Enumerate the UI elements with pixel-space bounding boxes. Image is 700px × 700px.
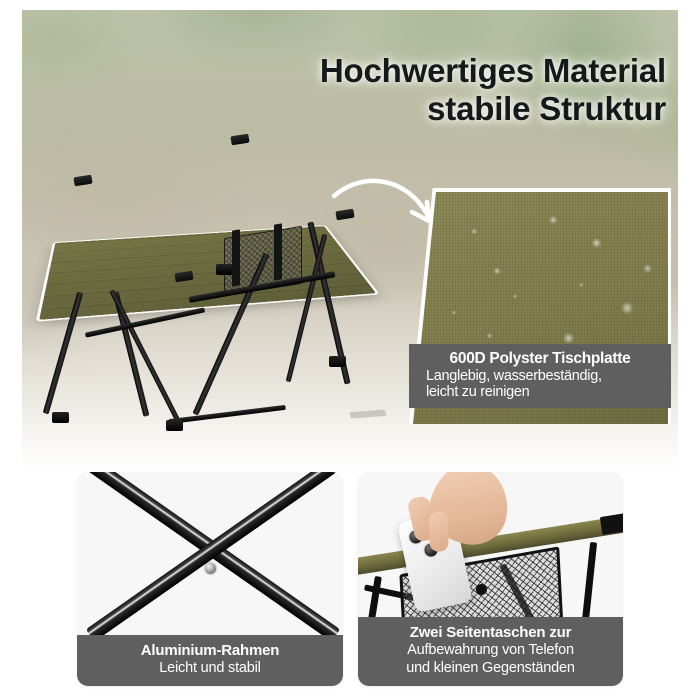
aluminium-caption-line-1: Leicht und stabil	[85, 660, 335, 677]
mesh-pocket-snap-button	[476, 584, 487, 595]
pockets-caption-line-1: Aufbewahrung von Telefon	[366, 642, 615, 659]
aluminium-frame-caption: Aluminium-Rahmen Leicht und stabil	[77, 635, 343, 686]
table-crossbar-base	[168, 405, 286, 424]
table-edge-rail-end-cap	[600, 513, 623, 535]
frame-center-rivet	[205, 563, 216, 574]
side-pockets-caption: Zwei Seitentaschen zur Aufbewahrung von …	[358, 617, 623, 686]
panel-side-pockets: Zwei Seitentaschen zur Aufbewahrung von …	[358, 472, 623, 686]
fabric-detail-caption: 600D Polyster Tischplatte Langlebig, was…	[409, 344, 671, 408]
pockets-caption-title: Zwei Seitentaschen zur	[366, 624, 615, 642]
pocket-strap-right	[274, 223, 282, 280]
headline-line-2: stabile Struktur	[226, 90, 666, 128]
fabric-caption-line-2: leicht zu reinigen	[413, 384, 667, 400]
headline: Hochwertiges Material stabile Struktur	[226, 52, 666, 129]
pockets-caption-line-2: und kleinen Gegenständen	[366, 660, 615, 677]
fabric-caption-line-1: Langlebig, wasserbeständig,	[413, 368, 667, 384]
photo-frame-left-edge	[0, 0, 22, 472]
table-foot-left	[52, 412, 69, 423]
headline-line-1: Hochwertiges Material	[320, 52, 666, 89]
photo-frame-top-edge	[0, 0, 700, 10]
fabric-caption-title: 600D Polyster Tischplatte	[413, 350, 667, 368]
table-foot-right	[329, 356, 346, 367]
aluminium-caption-title: Aluminium-Rahmen	[85, 642, 335, 660]
table-corner-clamp-top-left	[73, 175, 92, 187]
table-corner-clamp-top-right	[230, 134, 249, 146]
brand-logo-badge	[349, 410, 386, 419]
table-foot-rear	[216, 264, 233, 275]
index-finger	[429, 511, 449, 551]
panel-aluminium-frame: Aluminium-Rahmen Leicht und stabil	[77, 472, 343, 686]
photo-frame-right-edge	[678, 0, 700, 472]
pocket-strap-left	[232, 229, 240, 286]
table-foot-mid	[166, 420, 183, 431]
